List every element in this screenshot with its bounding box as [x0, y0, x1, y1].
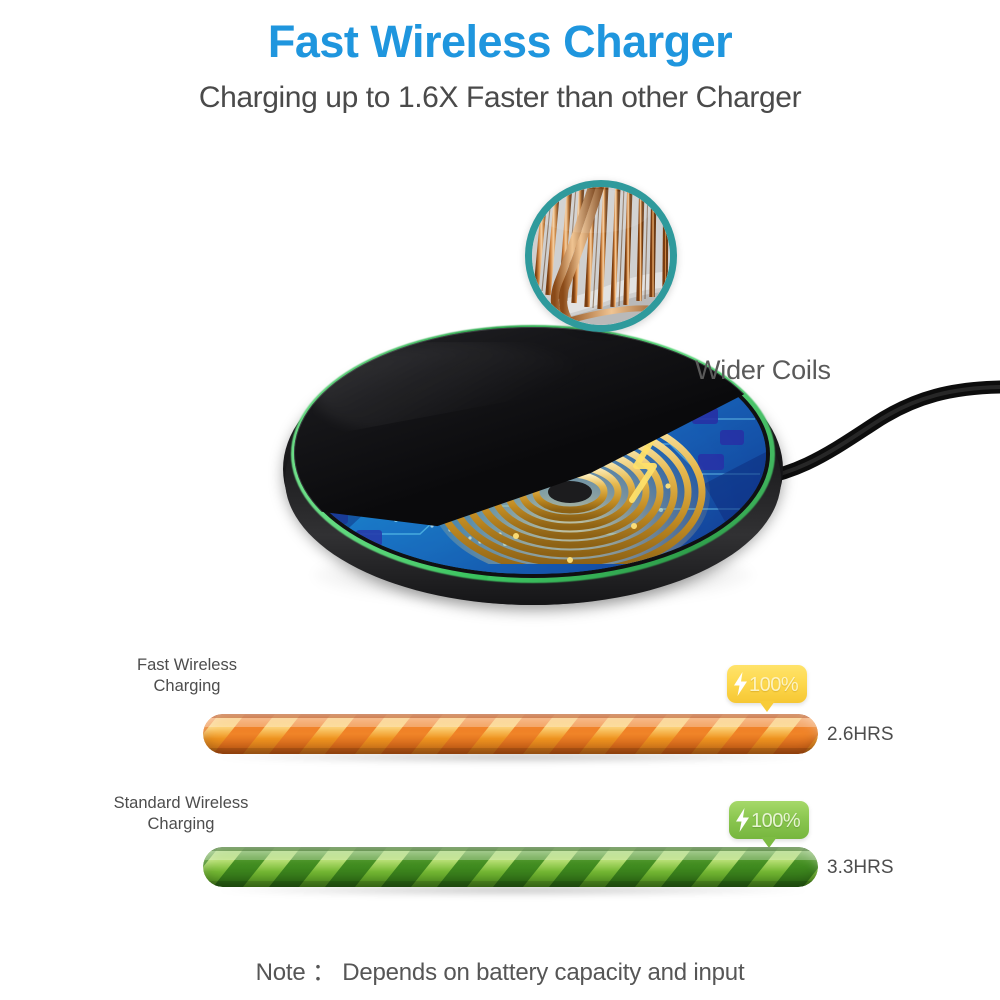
bar-label-fast-line1: Fast Wireless — [137, 656, 237, 674]
lightning-bolt-icon — [733, 672, 748, 696]
coil-magnifier-circle — [525, 180, 677, 332]
product-hero: Wider Coils — [0, 150, 1000, 650]
value-label-standard: 3.3HRS — [827, 857, 894, 879]
bar-fast-wireless — [203, 714, 818, 754]
badge-fast-pointer — [759, 701, 775, 712]
lightning-bolt-icon — [735, 808, 750, 832]
bar-label-standard: Standard Wireless Charging — [66, 793, 296, 835]
footer-note: Note ： Depends on battery capacity and i… — [0, 952, 1000, 987]
copper-wire-macro-icon — [532, 187, 670, 325]
page-title: Fast Wireless Charger — [0, 16, 1000, 68]
badge-standard-100: 100% — [729, 801, 809, 839]
bar-label-standard-line2: Charging — [66, 814, 296, 835]
page-subtitle: Charging up to 1.6X Faster than other Ch… — [0, 80, 1000, 116]
bar-label-fast: Fast Wireless Charging — [72, 655, 302, 697]
badge-standard-percent: 100% — [751, 811, 800, 831]
bar-standard-wireless — [203, 847, 818, 887]
coil-macro-photo — [532, 187, 670, 325]
callout-label-wider-coils: Wider Coils — [695, 355, 831, 386]
bar-standard-fill — [203, 847, 818, 887]
bar-label-standard-line1: Standard Wireless — [114, 794, 249, 812]
value-label-fast: 2.6HRS — [827, 724, 894, 746]
badge-fast-percent: 100% — [749, 675, 798, 695]
bar-fast-fill — [203, 714, 818, 754]
badge-fast-100: 100% — [727, 665, 807, 703]
bar-label-fast-line2: Charging — [72, 676, 302, 697]
